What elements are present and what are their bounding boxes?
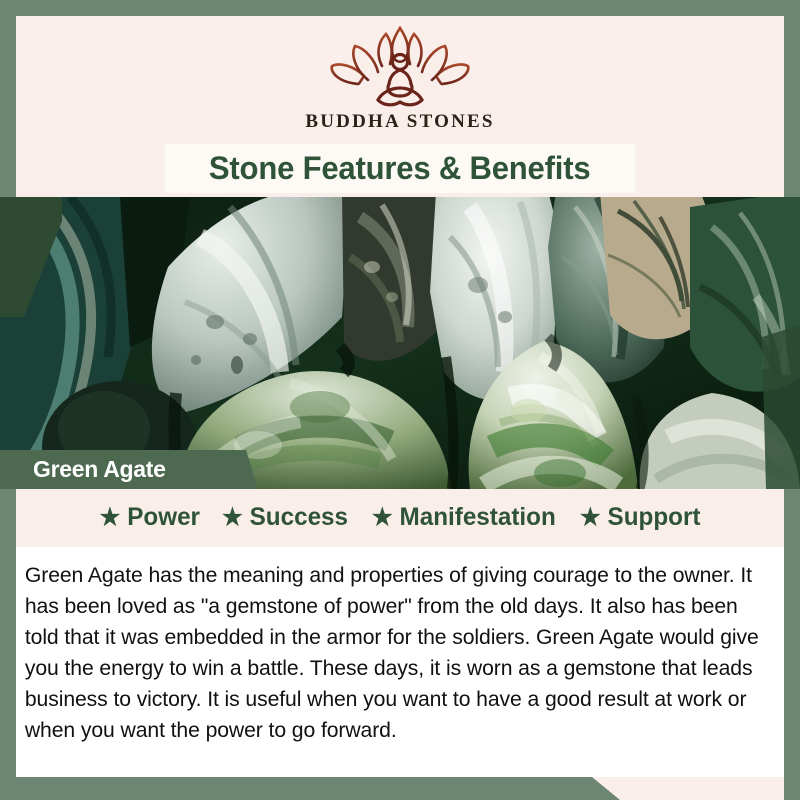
- stone-info-poster: BUDDHA STONES: [0, 0, 800, 800]
- keyword-label: Support: [607, 503, 700, 532]
- keyword-item-power: ★ Power: [99, 503, 199, 532]
- star-icon: ★: [372, 506, 393, 530]
- star-icon: ★: [99, 506, 120, 530]
- star-icon: ★: [580, 506, 601, 530]
- keyword-item-support: ★ Support: [580, 503, 701, 532]
- keyword-label: Success: [250, 503, 348, 532]
- keyword-item-manifestation: ★ Manifestation: [372, 503, 556, 532]
- keyword-item-success: ★ Success: [222, 503, 348, 532]
- keyword-list: ★ Power ★ Success ★ Manifestation ★ Supp…: [16, 503, 784, 532]
- keyword-label: Manifestation: [400, 503, 556, 532]
- stone-name-banner: Green Agate: [0, 450, 258, 489]
- star-icon: ★: [222, 506, 243, 530]
- brand-name: BUDDHA STONES: [16, 111, 784, 133]
- frame-border-bottom: [0, 777, 620, 800]
- frame-border-top: [0, 0, 800, 16]
- description-text: Green Agate has the meaning and properti…: [16, 547, 772, 746]
- keyword-label: Power: [127, 503, 200, 532]
- page-title: Stone Features & Benefits: [209, 150, 591, 187]
- lotus-meditation-figure-icon: [320, 22, 480, 108]
- stone-name: Green Agate: [33, 456, 166, 483]
- brand-logo: BUDDHA STONES: [16, 22, 784, 133]
- page-title-band: Stone Features & Benefits: [165, 144, 635, 193]
- content-section: ★ Power ★ Success ★ Manifestation ★ Supp…: [16, 489, 784, 777]
- green-agate-photo: [0, 197, 800, 489]
- description-panel: Green Agate has the meaning and properti…: [16, 547, 784, 777]
